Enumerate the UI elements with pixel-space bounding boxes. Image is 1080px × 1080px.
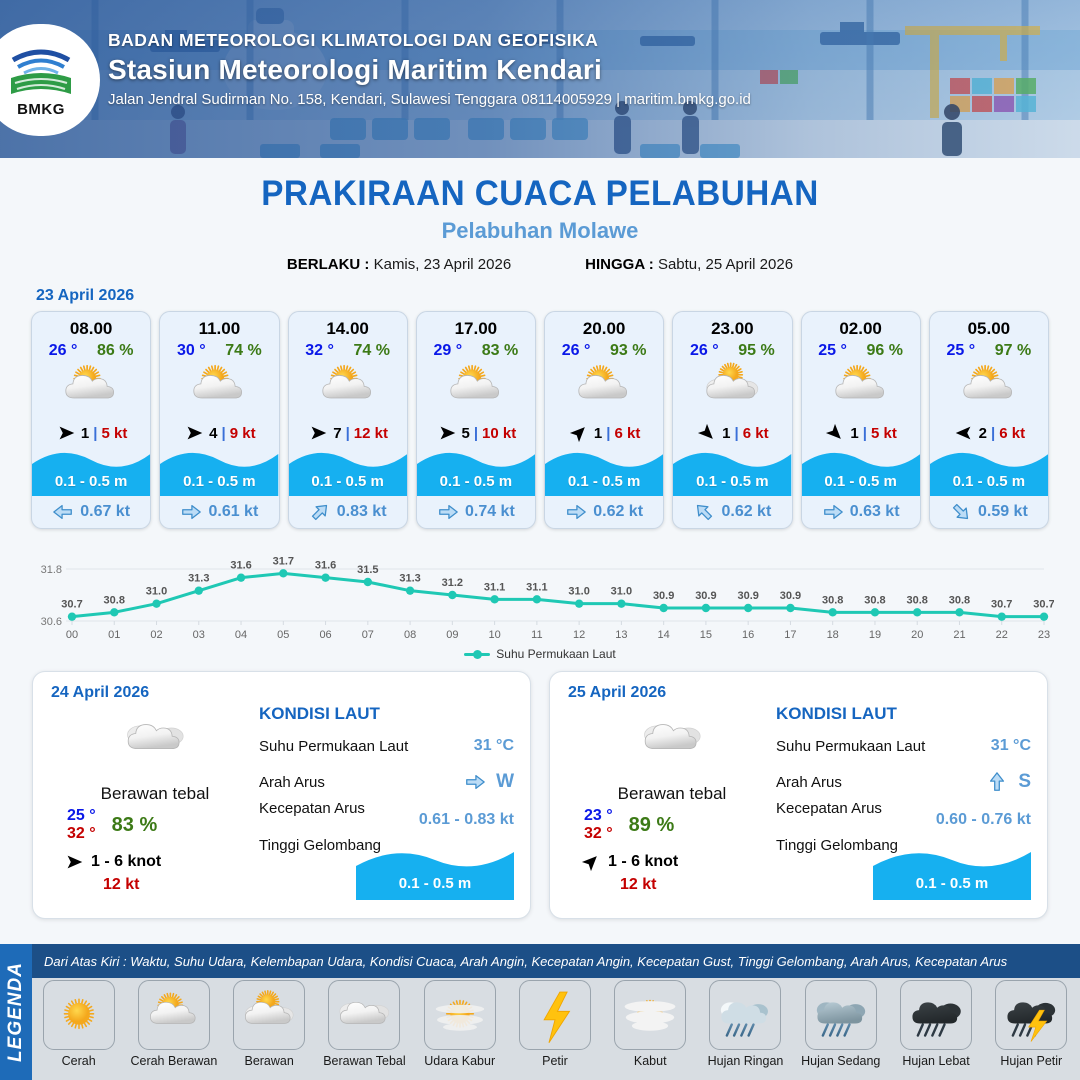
- card-wind-speed: 1: [594, 425, 602, 442]
- svg-text:30.7: 30.7: [991, 599, 1012, 611]
- card-wind-separator: |: [474, 425, 478, 442]
- card-temp-hum-row: 25 ° 96 %: [802, 339, 920, 360]
- current-direction-label: Arah Arus: [776, 774, 842, 791]
- weather-icon-cerah-berawan: [958, 358, 1020, 420]
- legend-icon-box: [328, 980, 400, 1050]
- card-time: 20.00: [545, 312, 663, 339]
- legend-item-label: Hujan Petir: [1000, 1054, 1062, 1068]
- card-temp-hum-row: 26 ° 86 %: [32, 339, 150, 360]
- card-time: 14.00: [289, 312, 407, 339]
- page-subtitle: Pelabuhan Molawe: [0, 218, 1080, 244]
- legend-item: Berawan: [225, 980, 314, 1068]
- weather-icon-cerah-berawan: [573, 358, 635, 420]
- card-current-row: 0.62 kt: [673, 496, 791, 528]
- chart-legend-label: Suhu Permukaan Laut: [496, 647, 615, 661]
- legend-icon-box: [614, 980, 686, 1050]
- svg-text:31.8: 31.8: [41, 564, 62, 576]
- card-current-row: 0.62 kt: [545, 496, 663, 528]
- station-address: Jalan Jendral Sudirman No. 158, Kendari,…: [108, 91, 751, 108]
- weather-icon-petir: [526, 986, 584, 1044]
- daily-temp-min: 23 °: [584, 807, 613, 825]
- hourly-card: 05.00 25 ° 97 % 2 | 6 kt 0.1 - 0.5 m 0.5…: [929, 311, 1049, 529]
- weather-icon-cerah-berawan: [145, 986, 203, 1044]
- legend-icon-box: [805, 980, 877, 1050]
- card-wave-block: 0.1 - 0.5 m: [289, 448, 407, 496]
- valid-from: BERLAKU : Kamis, 23 April 2026: [287, 256, 511, 273]
- card-wind-speed: 1: [81, 425, 89, 442]
- daily-wind-range: 1 - 6 knot: [608, 853, 678, 871]
- daily-humidity: 83 %: [112, 814, 158, 837]
- svg-text:03: 03: [193, 629, 205, 641]
- weather-icon-cerah-berawan: [445, 358, 507, 420]
- daily-temp-column: 25 ° 32 °: [67, 807, 96, 843]
- legend-item-label: Hujan Sedang: [801, 1054, 880, 1068]
- sst-value: 31 °C: [991, 737, 1031, 755]
- current-direction-value: W: [496, 771, 514, 793]
- current-direction-arrow-se: [693, 501, 715, 523]
- hourly-card: 20.00 26 ° 93 % 1 | 6 kt 0.1 - 0.5 m 0.6…: [544, 311, 664, 529]
- sea-conditions-title: KONDISI LAUT: [259, 704, 514, 724]
- svg-text:11: 11: [531, 629, 542, 641]
- card-current-speed: 0.62 kt: [721, 503, 771, 521]
- card-temp-hum-row: 32 ° 74 %: [289, 339, 407, 360]
- svg-text:00: 00: [66, 629, 78, 641]
- daily-wind-row: 1 - 6 knot: [568, 851, 776, 873]
- legend-item-label: Kabut: [634, 1054, 667, 1068]
- card-current-speed: 0.62 kt: [593, 503, 643, 521]
- legend-item: Cerah: [34, 980, 123, 1068]
- card-current-row: 0.67 kt: [32, 496, 150, 528]
- svg-text:30.7: 30.7: [61, 599, 82, 611]
- svg-text:31.3: 31.3: [188, 573, 209, 585]
- wind-direction-arrow-w: [55, 422, 77, 444]
- card-wind-separator: |: [735, 425, 739, 442]
- weather-icon-cerah-berawan: [60, 358, 122, 420]
- weather-icon-berawan-tebal: [639, 706, 705, 772]
- daily-wind-gust: 12 kt: [568, 876, 776, 894]
- card-weather-icon: [930, 360, 1048, 418]
- card-wave-height: 0.1 - 0.5 m: [417, 473, 535, 490]
- daily-forecast-card: 25 April 2026 Berawan tebal 23 ° 32 ° 89…: [549, 671, 1048, 919]
- weather-icon-cerah: [50, 986, 108, 1044]
- hourly-card: 14.00 32 ° 74 % 7 | 12 kt 0.1 - 0.5 m 0.…: [288, 311, 408, 529]
- bmkg-logo-text: BMKG: [17, 101, 65, 118]
- card-wind-gust: 9 kt: [230, 425, 256, 442]
- wind-direction-arrow-nw: [824, 422, 846, 444]
- page-title: PRAKIRAAN CUACA PELABUHAN: [27, 174, 1053, 214]
- svg-text:15: 15: [700, 629, 712, 641]
- card-current-row: 0.83 kt: [289, 496, 407, 528]
- svg-text:10: 10: [488, 629, 500, 641]
- card-wave-block: 0.1 - 0.5 m: [160, 448, 278, 496]
- card-current-row: 0.74 kt: [417, 496, 535, 528]
- legend-item: Hujan Petir: [987, 980, 1076, 1068]
- card-time: 08.00: [32, 312, 150, 339]
- current-direction-arrow-w: [822, 501, 844, 523]
- daily-temp-hum-row: 25 ° 32 ° 83 %: [51, 807, 259, 843]
- card-wind-separator: |: [863, 425, 867, 442]
- svg-text:31.6: 31.6: [315, 560, 336, 572]
- weather-icon-berawan-tebal: [122, 706, 188, 772]
- card-wind-row: 1 | 5 kt: [32, 418, 150, 448]
- svg-text:12: 12: [573, 629, 585, 641]
- legend-icon-box: [424, 980, 496, 1050]
- current-direction-arrow-w: [565, 501, 587, 523]
- daily-left-column: 24 April 2026 Berawan tebal 25 ° 32 ° 83…: [51, 684, 259, 906]
- agency-name: BADAN METEOROLOGI KLIMATOLOGI DAN GEOFIS…: [108, 30, 751, 51]
- card-wave-height: 0.1 - 0.5 m: [545, 473, 663, 490]
- svg-text:31.1: 31.1: [526, 581, 547, 593]
- svg-text:14: 14: [658, 629, 670, 641]
- valid-until-label: HINGGA :: [585, 256, 654, 273]
- weather-icon-udara-kabur: [431, 986, 489, 1044]
- hourly-card: 23.00 26 ° 95 % 1 | 6 kt 0.1 - 0.5 m 0.6…: [672, 311, 792, 529]
- card-wind-gust: 6 kt: [999, 425, 1025, 442]
- legend-icon-box: [900, 980, 972, 1050]
- sea-conditions-title: KONDISI LAUT: [776, 704, 1031, 724]
- weather-icon-hujan-petir: [1002, 986, 1060, 1044]
- current-direction-arrow-e: [52, 501, 74, 523]
- wind-direction-arrow-sw: [580, 851, 602, 873]
- current-direction-row: Arah Arus S: [776, 764, 1031, 800]
- validity-row: BERLAKU : Kamis, 23 April 2026 HINGGA : …: [0, 256, 1080, 273]
- card-wind-speed: 7: [333, 425, 341, 442]
- daily-wave-value: 0.1 - 0.5 m: [356, 875, 514, 892]
- title-block: PRAKIRAAN CUACA PELABUHAN Pelabuhan Mola…: [0, 158, 1080, 273]
- daily-weather-icon: [568, 708, 776, 770]
- card-temp-hum-row: 26 ° 95 %: [673, 339, 791, 360]
- svg-text:30.9: 30.9: [780, 590, 801, 602]
- weather-icon-berawan-tebal: [335, 986, 393, 1044]
- legend-item: Hujan Lebat: [891, 980, 980, 1068]
- card-temp-hum-row: 29 ° 83 %: [417, 339, 535, 360]
- card-wind-gust: 5 kt: [871, 425, 897, 442]
- weather-icon-cerah-berawan: [830, 358, 892, 420]
- current-direction-arrow-w: [464, 771, 486, 793]
- hourly-card: 08.00 26 ° 86 % 1 | 5 kt 0.1 - 0.5 m 0.6…: [31, 311, 151, 529]
- card-current-row: 0.63 kt: [802, 496, 920, 528]
- card-time: 23.00: [673, 312, 791, 339]
- svg-text:30.9: 30.9: [653, 590, 674, 602]
- daily-temp-column: 23 ° 32 °: [584, 807, 613, 843]
- card-wave-height: 0.1 - 0.5 m: [802, 473, 920, 490]
- current-speed-row: Kecepatan Arus 0.60 - 0.76 kt: [776, 800, 1031, 829]
- svg-text:04: 04: [235, 629, 247, 641]
- svg-text:30.7: 30.7: [1033, 599, 1054, 611]
- card-wind-gust: 12 kt: [354, 425, 388, 442]
- card-wind-row: 5 | 10 kt: [417, 418, 535, 448]
- svg-text:19: 19: [869, 629, 881, 641]
- svg-text:31.3: 31.3: [399, 573, 420, 585]
- weather-icon-berawan: [701, 358, 763, 420]
- card-time: 02.00: [802, 312, 920, 339]
- sst-label: Suhu Permukaan Laut: [776, 738, 925, 755]
- hourly-card: 17.00 29 ° 83 % 5 | 10 kt 0.1 - 0.5 m 0.…: [416, 311, 536, 529]
- station-name: Stasiun Meteorologi Maritim Kendari: [108, 54, 751, 86]
- daily-weather-icon: [51, 708, 259, 770]
- card-temp-hum-row: 26 ° 93 %: [545, 339, 663, 360]
- card-wind-speed: 5: [462, 425, 470, 442]
- legend-tab: LEGENDA: [0, 944, 32, 1080]
- current-direction-row: Arah Arus W: [259, 764, 514, 800]
- card-wind-row: 7 | 12 kt: [289, 418, 407, 448]
- legend-icon-box: [519, 980, 591, 1050]
- weather-icon-hujan-ringan: [716, 986, 774, 1044]
- card-wind-row: 4 | 9 kt: [160, 418, 278, 448]
- current-direction-arrow-nw: [950, 501, 972, 523]
- card-wind-separator: |: [606, 425, 610, 442]
- svg-text:30.8: 30.8: [864, 594, 885, 606]
- svg-text:30.6: 30.6: [41, 616, 62, 628]
- wind-direction-arrow-w: [183, 422, 205, 444]
- wind-direction-arrow-sw: [568, 422, 590, 444]
- svg-text:06: 06: [319, 629, 331, 641]
- legend-note: Dari Atas Kiri : Waktu, Suhu Udara, Kele…: [32, 944, 1080, 978]
- svg-text:30.9: 30.9: [737, 590, 758, 602]
- daily-condition: Berawan tebal: [568, 784, 776, 804]
- daily-forecast-card: 24 April 2026 Berawan tebal 25 ° 32 ° 83…: [32, 671, 531, 919]
- card-time: 17.00: [417, 312, 535, 339]
- legend-item-label: Cerah: [62, 1054, 96, 1068]
- daily-temp-min: 25 °: [67, 807, 96, 825]
- hourly-date-label: 23 April 2026: [36, 287, 1080, 305]
- sst-chart: 31.830.600010203040506070809101112131415…: [26, 543, 1054, 643]
- card-current-row: 0.61 kt: [160, 496, 278, 528]
- daily-date: 25 April 2026: [568, 684, 776, 702]
- sst-label: Suhu Permukaan Laut: [259, 738, 408, 755]
- card-wind-row: 1 | 6 kt: [545, 418, 663, 448]
- card-weather-icon: [545, 360, 663, 418]
- card-wind-separator: |: [93, 425, 97, 442]
- svg-text:09: 09: [446, 629, 458, 641]
- card-wind-separator: |: [222, 425, 226, 442]
- card-current-speed: 0.83 kt: [337, 503, 387, 521]
- card-wave-block: 0.1 - 0.5 m: [545, 448, 663, 496]
- daily-wind-gust: 12 kt: [51, 876, 259, 894]
- card-wind-speed: 2: [979, 425, 987, 442]
- wind-direction-arrow-w: [436, 422, 458, 444]
- hourly-card: 02.00 25 ° 96 % 1 | 5 kt 0.1 - 0.5 m 0.6…: [801, 311, 921, 529]
- sst-chart-svg: 31.830.600010203040506070809101112131415…: [26, 543, 1054, 643]
- svg-text:31.6: 31.6: [230, 560, 251, 572]
- card-current-speed: 0.67 kt: [80, 503, 130, 521]
- daily-forecast-row: 24 April 2026 Berawan tebal 25 ° 32 ° 83…: [0, 661, 1080, 919]
- legend-item-label: Berawan Tebal: [323, 1054, 405, 1068]
- legend-item: Hujan Sedang: [796, 980, 885, 1068]
- weather-icon-cerah-berawan: [317, 358, 379, 420]
- legend-icon-box: [43, 980, 115, 1050]
- legend-item-label: Udara Kabur: [424, 1054, 495, 1068]
- legend-item: Cerah Berawan: [129, 980, 218, 1068]
- card-wind-gust: 6 kt: [614, 425, 640, 442]
- daily-sea-conditions: KONDISI LAUT Suhu Permukaan Laut 31 °C A…: [259, 684, 514, 906]
- svg-text:01: 01: [108, 629, 120, 641]
- page-header: BMKG BADAN METEOROLOGI KLIMATOLOGI DAN G…: [0, 0, 1080, 158]
- current-direction-label: Arah Arus: [259, 774, 325, 791]
- card-weather-icon: [160, 360, 278, 418]
- legend-item-label: Hujan Ringan: [708, 1054, 784, 1068]
- bmkg-logo-icon: [5, 42, 77, 100]
- card-wind-speed: 1: [850, 425, 858, 442]
- svg-text:31.2: 31.2: [442, 577, 463, 589]
- svg-text:30.8: 30.8: [104, 594, 125, 606]
- current-direction-arrow-w: [437, 501, 459, 523]
- card-wind-separator: |: [991, 425, 995, 442]
- hourly-card: 11.00 30 ° 74 % 4 | 9 kt 0.1 - 0.5 m 0.6…: [159, 311, 279, 529]
- sst-value: 31 °C: [474, 737, 514, 755]
- weather-icon-kabut: [621, 986, 679, 1044]
- legend-icon-list: Cerah Cerah Berawan Berawan Berawan Teba…: [34, 980, 1076, 1068]
- daily-left-column: 25 April 2026 Berawan tebal 23 ° 32 ° 89…: [568, 684, 776, 906]
- legend-icon-box: [709, 980, 781, 1050]
- svg-text:31.7: 31.7: [273, 555, 294, 567]
- svg-text:21: 21: [953, 629, 965, 641]
- card-wave-block: 0.1 - 0.5 m: [673, 448, 791, 496]
- legend-footer: LEGENDA Dari Atas Kiri : Waktu, Suhu Uda…: [0, 944, 1080, 1080]
- card-current-speed: 0.61 kt: [208, 503, 258, 521]
- card-wind-gust: 6 kt: [743, 425, 769, 442]
- svg-text:31.0: 31.0: [611, 586, 632, 598]
- legend-icon-box: [138, 980, 210, 1050]
- legend-item-label: Berawan: [244, 1054, 293, 1068]
- svg-text:16: 16: [742, 629, 754, 641]
- card-weather-icon: [32, 360, 150, 418]
- svg-text:07: 07: [362, 629, 374, 641]
- valid-from-value: Kamis, 23 April 2026: [374, 256, 512, 273]
- card-current-row: 0.59 kt: [930, 496, 1048, 528]
- card-weather-icon: [289, 360, 407, 418]
- card-wave-block: 0.1 - 0.5 m: [417, 448, 535, 496]
- card-time: 05.00: [930, 312, 1048, 339]
- daily-temp-hum-row: 23 ° 32 ° 89 %: [568, 807, 776, 843]
- header-text-block: BADAN METEOROLOGI KLIMATOLOGI DAN GEOFIS…: [108, 30, 751, 108]
- card-wave-block: 0.1 - 0.5 m: [930, 448, 1048, 496]
- daily-temp-max: 32 °: [67, 825, 96, 843]
- wind-direction-arrow-w: [63, 851, 85, 873]
- hourly-forecast-row: 08.00 26 ° 86 % 1 | 5 kt 0.1 - 0.5 m 0.6…: [0, 311, 1080, 529]
- svg-text:13: 13: [615, 629, 627, 641]
- svg-text:05: 05: [277, 629, 289, 641]
- card-wave-block: 0.1 - 0.5 m: [32, 448, 150, 496]
- daily-wave-value: 0.1 - 0.5 m: [873, 875, 1031, 892]
- svg-text:30.8: 30.8: [907, 594, 928, 606]
- legend-item: Berawan Tebal: [320, 980, 409, 1068]
- svg-text:30.8: 30.8: [822, 594, 843, 606]
- svg-text:02: 02: [150, 629, 162, 641]
- svg-text:31.0: 31.0: [146, 586, 167, 598]
- weather-icon-hujan-lebat: [907, 986, 965, 1044]
- wind-direction-arrow-e: [953, 422, 975, 444]
- card-current-speed: 0.74 kt: [465, 503, 515, 521]
- sst-row: Suhu Permukaan Laut 31 °C: [259, 728, 514, 764]
- weather-icon-hujan-sedang: [812, 986, 870, 1044]
- card-wave-block: 0.1 - 0.5 m: [802, 448, 920, 496]
- svg-text:31.0: 31.0: [568, 586, 589, 598]
- legend-item: Udara Kabur: [415, 980, 504, 1068]
- daily-wave-block: 0.1 - 0.5 m: [356, 844, 514, 900]
- svg-text:18: 18: [827, 629, 839, 641]
- current-direction-arrow-sw: [309, 501, 331, 523]
- legend-icon-box: [995, 980, 1067, 1050]
- card-wind-gust: 10 kt: [482, 425, 516, 442]
- svg-text:23: 23: [1038, 629, 1050, 641]
- card-current-speed: 0.59 kt: [978, 503, 1028, 521]
- svg-text:17: 17: [784, 629, 796, 641]
- chart-legend-swatch: [464, 653, 490, 656]
- card-time: 11.00: [160, 312, 278, 339]
- legend-icon-box: [233, 980, 305, 1050]
- card-wind-speed: 1: [722, 425, 730, 442]
- chart-legend: Suhu Permukaan Laut: [0, 647, 1080, 661]
- daily-sea-conditions: KONDISI LAUT Suhu Permukaan Laut 31 °C A…: [776, 684, 1031, 906]
- daily-date: 24 April 2026: [51, 684, 259, 702]
- card-temp-hum-row: 30 ° 74 %: [160, 339, 278, 360]
- daily-humidity: 89 %: [629, 814, 675, 837]
- valid-from-label: BERLAKU :: [287, 256, 370, 273]
- card-weather-icon: [417, 360, 535, 418]
- card-wave-height: 0.1 - 0.5 m: [160, 473, 278, 490]
- card-current-speed: 0.63 kt: [850, 503, 900, 521]
- current-speed-row: Kecepatan Arus 0.61 - 0.83 kt: [259, 800, 514, 829]
- daily-wind-row: 1 - 6 knot: [51, 851, 259, 873]
- card-temp-hum-row: 25 ° 97 %: [930, 339, 1048, 360]
- card-wind-speed: 4: [209, 425, 217, 442]
- legend-item-label: Petir: [542, 1054, 568, 1068]
- card-wind-row: 1 | 5 kt: [802, 418, 920, 448]
- legend-item-label: Hujan Lebat: [902, 1054, 969, 1068]
- current-direction-value-group: W: [464, 771, 514, 793]
- current-direction-arrow-s: [986, 771, 1008, 793]
- sst-row: Suhu Permukaan Laut 31 °C: [776, 728, 1031, 764]
- card-wave-height: 0.1 - 0.5 m: [930, 473, 1048, 490]
- card-wave-height: 0.1 - 0.5 m: [289, 473, 407, 490]
- svg-text:20: 20: [911, 629, 923, 641]
- card-wind-row: 1 | 6 kt: [673, 418, 791, 448]
- daily-temp-max: 32 °: [584, 825, 613, 843]
- card-wind-separator: |: [346, 425, 350, 442]
- svg-text:22: 22: [996, 629, 1008, 641]
- svg-text:30.9: 30.9: [695, 590, 716, 602]
- svg-text:31.5: 31.5: [357, 564, 378, 576]
- wind-direction-arrow-nw: [696, 422, 718, 444]
- card-weather-icon: [802, 360, 920, 418]
- daily-wind-range: 1 - 6 knot: [91, 853, 161, 871]
- daily-wave-block: 0.1 - 0.5 m: [873, 844, 1031, 900]
- legend-item: Petir: [510, 980, 599, 1068]
- current-direction-value: S: [1018, 771, 1031, 793]
- legend-tab-label: LEGENDA: [5, 962, 27, 1062]
- legend-item-label: Cerah Berawan: [130, 1054, 217, 1068]
- current-direction-value-group: S: [986, 771, 1031, 793]
- card-wave-height: 0.1 - 0.5 m: [673, 473, 791, 490]
- svg-text:30.8: 30.8: [949, 594, 970, 606]
- card-wind-gust: 5 kt: [101, 425, 127, 442]
- card-wave-height: 0.1 - 0.5 m: [32, 473, 150, 490]
- valid-until: HINGGA : Sabtu, 25 April 2026: [585, 256, 793, 273]
- valid-until-value: Sabtu, 25 April 2026: [658, 256, 793, 273]
- svg-text:08: 08: [404, 629, 416, 641]
- current-direction-arrow-w: [180, 501, 202, 523]
- card-weather-icon: [673, 360, 791, 418]
- daily-condition: Berawan tebal: [51, 784, 259, 804]
- legend-item: Hujan Ringan: [701, 980, 790, 1068]
- card-wind-row: 2 | 6 kt: [930, 418, 1048, 448]
- wind-direction-arrow-w: [307, 422, 329, 444]
- legend-item: Kabut: [606, 980, 695, 1068]
- svg-text:31.1: 31.1: [484, 581, 505, 593]
- weather-icon-cerah-berawan: [188, 358, 250, 420]
- weather-icon-berawan: [240, 986, 298, 1044]
